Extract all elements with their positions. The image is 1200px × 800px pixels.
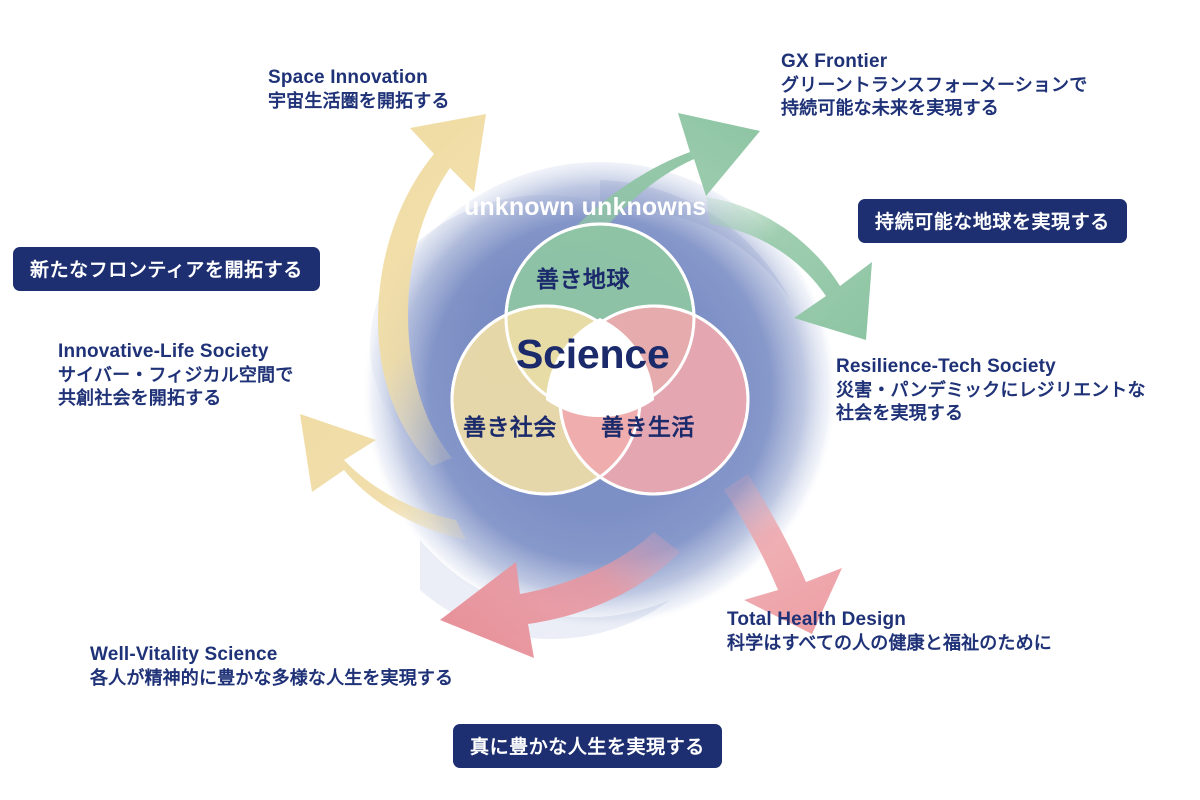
label-gx-frontier-desc: グリーントランスフォーメーションで 持続可能な未来を実現する — [781, 74, 1087, 120]
label-total-health-design-desc: 科学はすべての人の健康と福祉のために — [727, 632, 1052, 655]
label-well-vitality-science-desc: 各人が精神的に豊かな多様な人生を実現する — [90, 667, 453, 690]
label-gx-frontier-title: GX Frontier — [781, 50, 1087, 74]
label-innovative-life-society: Innovative-Life Society サイバー・フィジカル空間で 共創… — [58, 340, 293, 410]
label-resilience-tech-society-title: Resilience-Tech Society — [836, 355, 1146, 379]
label-innovative-life-society-title: Innovative-Life Society — [58, 340, 293, 364]
science-label: Science — [516, 331, 670, 378]
label-total-health-design: Total Health Design 科学はすべての人の健康と福祉のために — [727, 608, 1052, 655]
venn-label-society: 善き社会 — [463, 408, 557, 442]
label-space-innovation-desc: 宇宙生活圏を開拓する — [268, 90, 450, 113]
label-well-vitality-science-title: Well-Vitality Science — [90, 643, 453, 667]
badge-rich-life: 真に豊かな人生を実現する — [453, 724, 722, 768]
label-space-innovation: Space Innovation 宇宙生活圏を開拓する — [268, 66, 450, 113]
label-innovative-life-society-desc: サイバー・フィジカル空間で 共創社会を開拓する — [58, 364, 293, 410]
venn-label-life: 善き生活 — [601, 408, 695, 442]
label-total-health-design-title: Total Health Design — [727, 608, 1052, 632]
venn-label-earth: 善き地球 — [536, 260, 630, 294]
badge-sustainable-earth: 持続可能な地球を実現する — [858, 199, 1127, 243]
label-resilience-tech-society: Resilience-Tech Society 災害・パンデミックにレジリエント… — [836, 355, 1146, 425]
diagram-canvas: unknown unknowns 善き地球 善き社会 善き生活 Science … — [0, 0, 1200, 800]
label-well-vitality-science: Well-Vitality Science 各人が精神的に豊かな多様な人生を実現… — [90, 643, 453, 690]
badge-new-frontier: 新たなフロンティアを開拓する — [13, 247, 320, 291]
label-gx-frontier: GX Frontier グリーントランスフォーメーションで 持続可能な未来を実現… — [781, 50, 1087, 120]
unknown-unknowns-label: unknown unknowns — [464, 193, 706, 222]
label-space-innovation-title: Space Innovation — [268, 66, 450, 90]
label-resilience-tech-society-desc: 災害・パンデミックにレジリエントな 社会を実現する — [836, 379, 1146, 425]
